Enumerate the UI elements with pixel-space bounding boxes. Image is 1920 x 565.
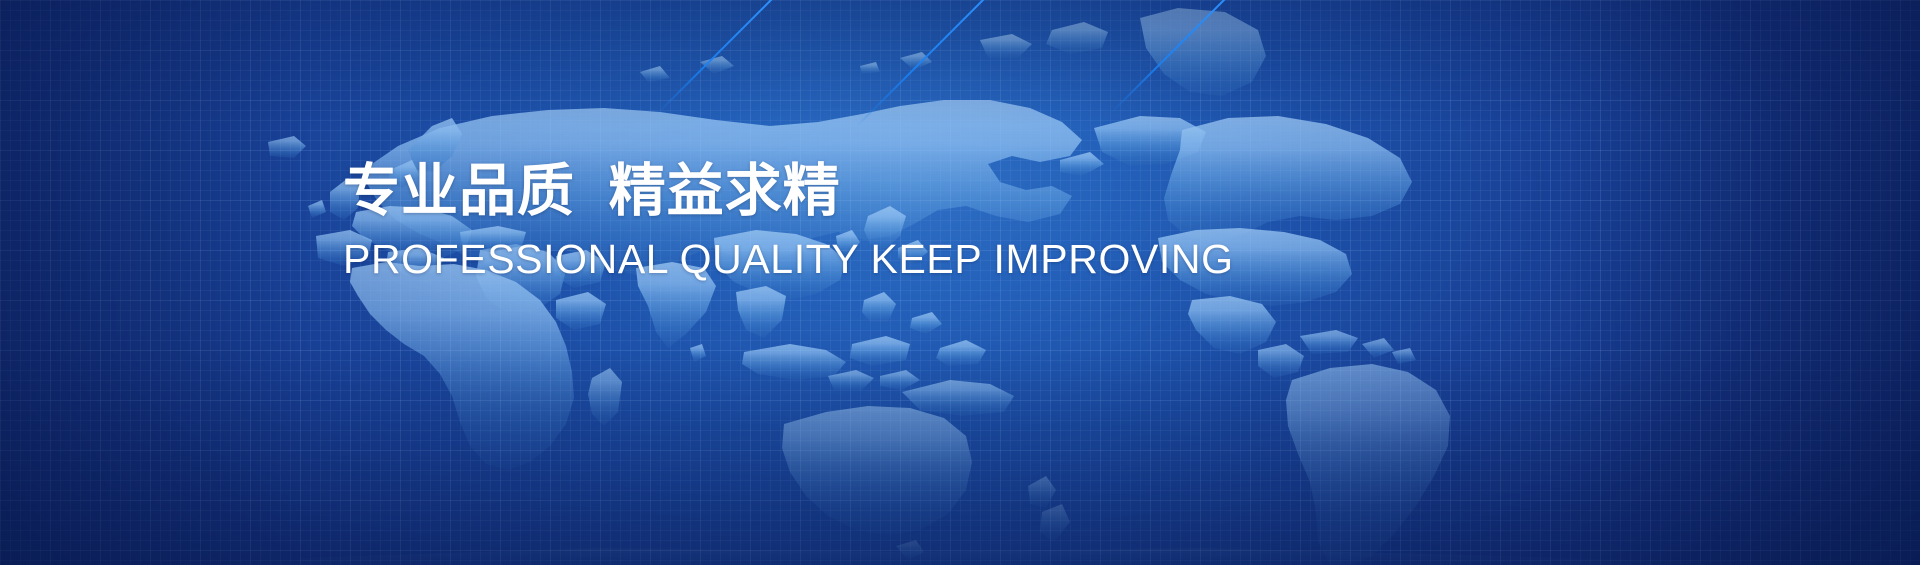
diagonal-streak-3 (1110, 0, 1239, 114)
diagonal-streak-1 (655, 0, 778, 116)
diagonal-streaks (0, 0, 1920, 565)
diagonal-streak-2 (857, 0, 1005, 126)
banner-copy: 专业品质 精益求精 PROFESSIONAL QUALITY KEEP IMPR… (343, 158, 1443, 282)
hero-banner: 专业品质 精益求精 PROFESSIONAL QUALITY KEEP IMPR… (0, 0, 1920, 565)
headline-chinese: 专业品质 精益求精 (343, 158, 1443, 225)
headline-english: PROFESSIONAL QUALITY KEEP IMPROVING (343, 237, 1443, 282)
